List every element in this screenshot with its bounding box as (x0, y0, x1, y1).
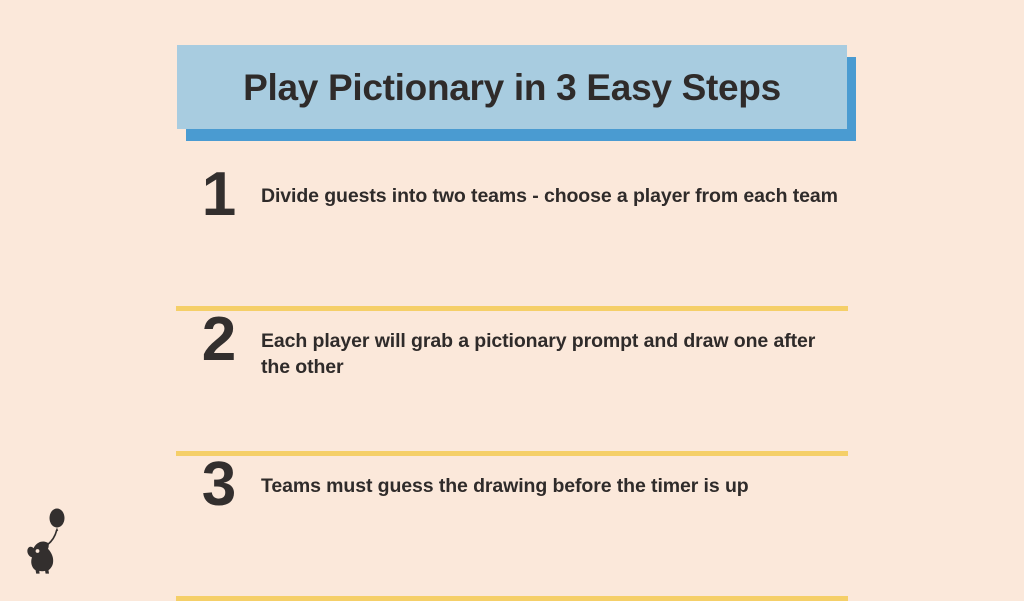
step-row: 2 Each player will grab a pictionary pro… (176, 311, 848, 401)
step-number: 1 (176, 166, 261, 225)
step-item: 2 Each player will grab a pictionary pro… (176, 311, 848, 456)
step-row: 3 Teams must guess the drawing before th… (176, 456, 848, 546)
pictionary-steps-infographic: Play Pictionary in 3 Easy Steps 1 Divide… (0, 0, 1024, 600)
step-item: 1 Divide guests into two teams - choose … (176, 166, 848, 311)
elephant-with-balloon-icon (26, 507, 72, 577)
step-description: Teams must guess the drawing before the … (261, 456, 848, 500)
title-banner-face: Play Pictionary in 3 Easy Steps (177, 45, 847, 129)
step-number: 3 (176, 456, 261, 515)
steps-list: 1 Divide guests into two teams - choose … (176, 166, 848, 601)
step-row: 1 Divide guests into two teams - choose … (176, 166, 848, 256)
step-description: Divide guests into two teams - choose a … (261, 166, 848, 210)
step-item: 3 Teams must guess the drawing before th… (176, 456, 848, 601)
step-divider (176, 596, 848, 601)
page-title: Play Pictionary in 3 Easy Steps (243, 69, 781, 106)
title-banner: Play Pictionary in 3 Easy Steps (177, 45, 847, 129)
step-description: Each player will grab a pictionary promp… (261, 311, 848, 380)
step-number: 2 (176, 311, 261, 370)
